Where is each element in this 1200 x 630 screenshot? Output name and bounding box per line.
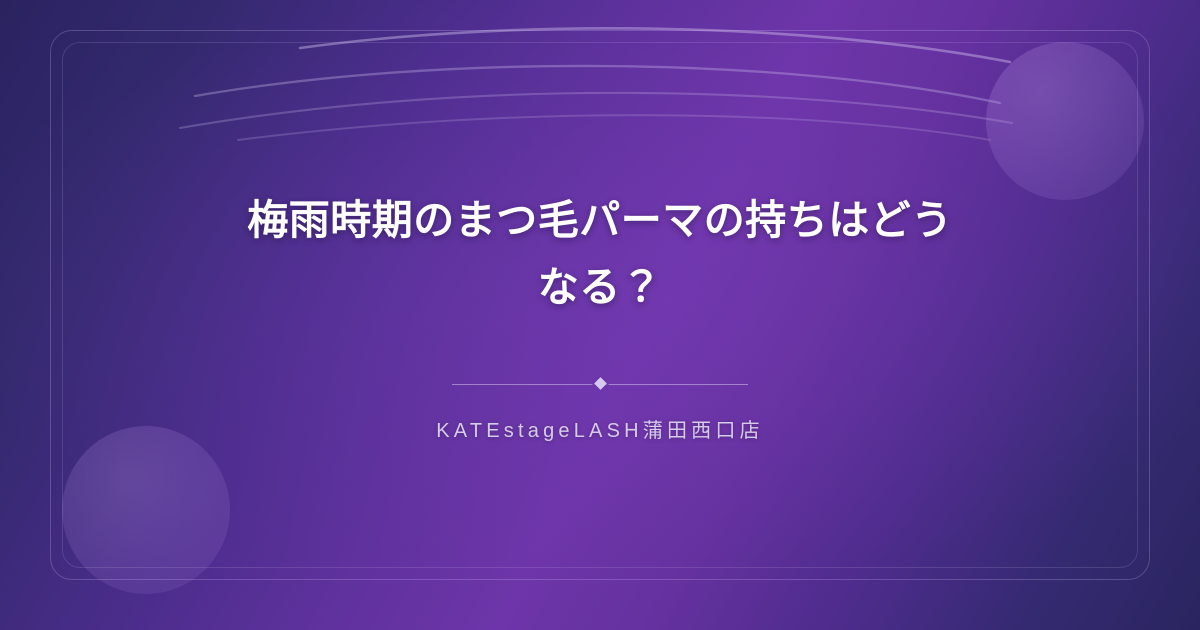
divider-diamond-icon [594, 378, 607, 391]
title-divider [452, 376, 748, 392]
site-name: KATEstageLASH蒲田西口店 [436, 414, 764, 443]
card-content: 梅雨時期のまつ毛パーマの持ちはどうなる？ KATEstageLASH蒲田西口店 [0, 0, 1200, 630]
page-title: 梅雨時期のまつ毛パーマの持ちはどうなる？ [230, 187, 970, 320]
og-card: 梅雨時期のまつ毛パーマの持ちはどうなる？ KATEstageLASH蒲田西口店 [0, 0, 1200, 630]
